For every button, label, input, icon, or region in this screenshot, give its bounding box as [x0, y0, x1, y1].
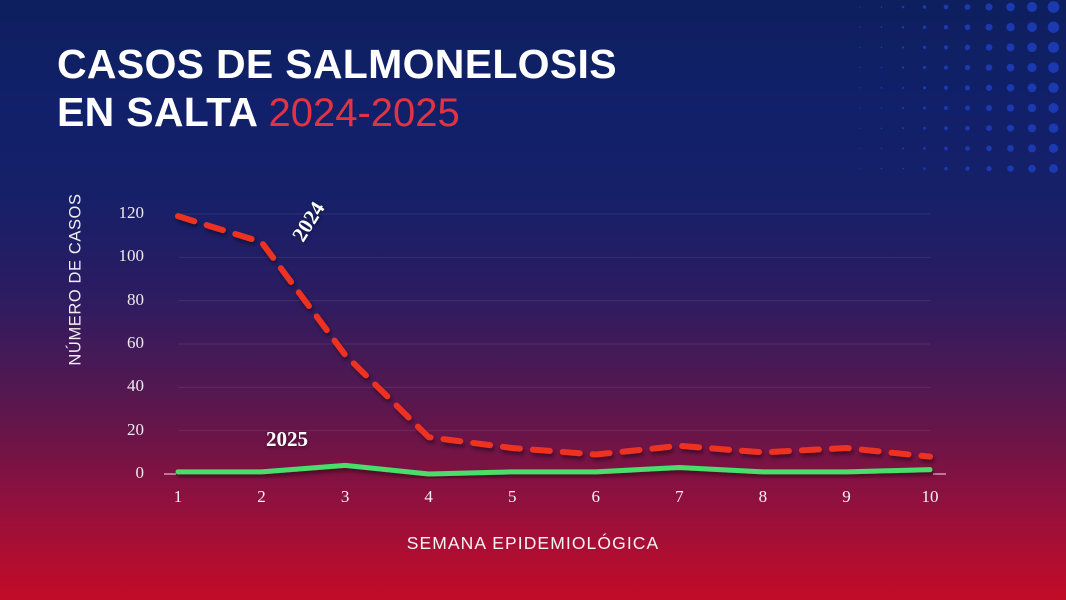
x-tick-label: 2 [242, 487, 282, 507]
chart-infographic: CASOS DE SALMONELOSIS EN SALTA 2024-2025… [0, 0, 1066, 600]
x-tick-label: 6 [576, 487, 616, 507]
x-tick-label: 8 [743, 487, 783, 507]
line-chart: NÚMERO DE CASOS 020406080100120 12345678… [0, 0, 1066, 600]
y-tick-label: 80 [98, 290, 144, 310]
y-tick-label: 100 [98, 246, 144, 266]
x-tick-label: 1 [158, 487, 198, 507]
y-tick-label: 20 [98, 420, 144, 440]
y-tick-label: 60 [98, 333, 144, 353]
x-tick-label: 5 [492, 487, 532, 507]
x-tick-label: 4 [409, 487, 449, 507]
y-tick-label: 120 [98, 203, 144, 223]
x-tick-label: 9 [826, 487, 866, 507]
series-label-2025: 2025 [266, 427, 308, 452]
x-tick-label: 7 [659, 487, 699, 507]
x-tick-label: 10 [910, 487, 950, 507]
chart-canvas [0, 0, 1066, 600]
y-tick-label: 0 [98, 463, 144, 483]
x-axis-title: SEMANA EPIDEMIOLÓGICA [0, 533, 1066, 554]
x-tick-label: 3 [325, 487, 365, 507]
y-tick-label: 40 [98, 376, 144, 396]
